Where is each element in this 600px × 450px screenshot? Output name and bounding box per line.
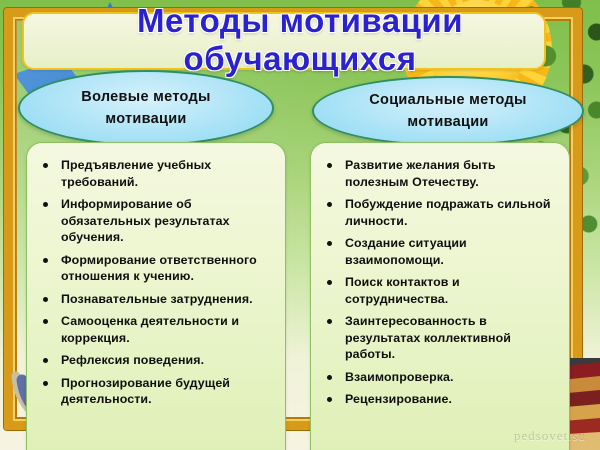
heading-line-1: Социальные методы — [369, 89, 526, 111]
heading-line-2: мотивации — [407, 111, 488, 133]
heading-line-1: Волевые методы — [81, 86, 210, 108]
list-item: Рефлексия поведения. — [35, 352, 275, 369]
list-item: Развитие желания быть полезным Отечеству… — [319, 157, 559, 190]
presentation-slide: Методы мотивации обучающихся Волевые мет… — [0, 0, 600, 450]
list-item: Взаимопроверка. — [319, 369, 559, 386]
title-panel — [22, 12, 546, 70]
list-item: Прогнозирование будущей деятельности. — [35, 375, 275, 408]
bullet-list-volitional: Предъявление учебных требований. Информи… — [27, 143, 285, 408]
content-panel-volitional: Предъявление учебных требований. Информи… — [26, 142, 286, 450]
heading-ellipse-social: Социальные методы мотивации — [312, 76, 584, 146]
heading-ellipse-volitional: Волевые методы мотивации — [18, 70, 274, 146]
content-panel-social: Развитие желания быть полезным Отечеству… — [310, 142, 570, 450]
list-item: Поиск контактов и сотрудничества. — [319, 274, 559, 307]
list-item: Заинтересованность в результатах коллект… — [319, 313, 559, 363]
list-item: Предъявление учебных требований. — [35, 157, 275, 190]
list-item: Информирование об обязательных результат… — [35, 196, 275, 246]
list-item: Формирование ответственного отношения к … — [35, 252, 275, 285]
list-item: Создание ситуации взаимопомощи. — [319, 235, 559, 268]
list-item: Побуждение подражать сильной личности. — [319, 196, 559, 229]
bullet-list-social: Развитие желания быть полезным Отечеству… — [311, 143, 569, 408]
list-item: Рецензирование. — [319, 391, 559, 408]
list-item: Самооценка деятельности и коррекция. — [35, 313, 275, 346]
list-item: Познавательные затруднения. — [35, 291, 275, 308]
heading-line-2: мотивации — [105, 108, 186, 130]
